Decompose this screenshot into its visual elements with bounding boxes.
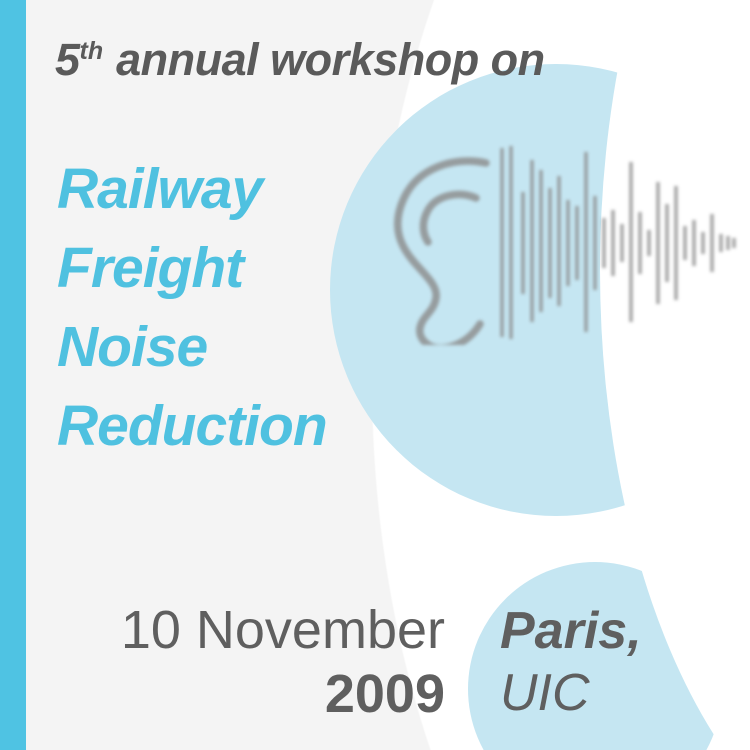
kicker-line: 5thannual workshop on (55, 34, 545, 86)
title-line-4: Reduction (57, 387, 327, 466)
page-title: Railway Freight Noise Reduction (57, 150, 327, 466)
sound-waveform-icon (502, 146, 734, 339)
location-line-1: Paris, (500, 600, 642, 662)
title-line-3: Noise (57, 308, 327, 387)
ear-icon (398, 161, 486, 345)
title-line-2: Freight (57, 229, 327, 308)
left-accent-stripe (0, 0, 26, 750)
date-line-2: 2009 (60, 662, 445, 726)
date-line-1: 10 November (60, 598, 445, 662)
event-date: 10 November 2009 (60, 598, 445, 726)
location-line-2: UIC (500, 662, 642, 724)
event-location: Paris, UIC (500, 600, 642, 724)
title-line-1: Railway (57, 150, 327, 229)
poster-canvas: 5thannual workshop on Railway Freight No… (0, 0, 750, 750)
kicker-number: 5 (55, 34, 80, 85)
logo-svg (382, 140, 742, 345)
ear-waveform-logo (382, 140, 742, 345)
kicker-text: annual workshop on (116, 34, 545, 85)
kicker-ordinal-suffix: th (80, 37, 104, 65)
